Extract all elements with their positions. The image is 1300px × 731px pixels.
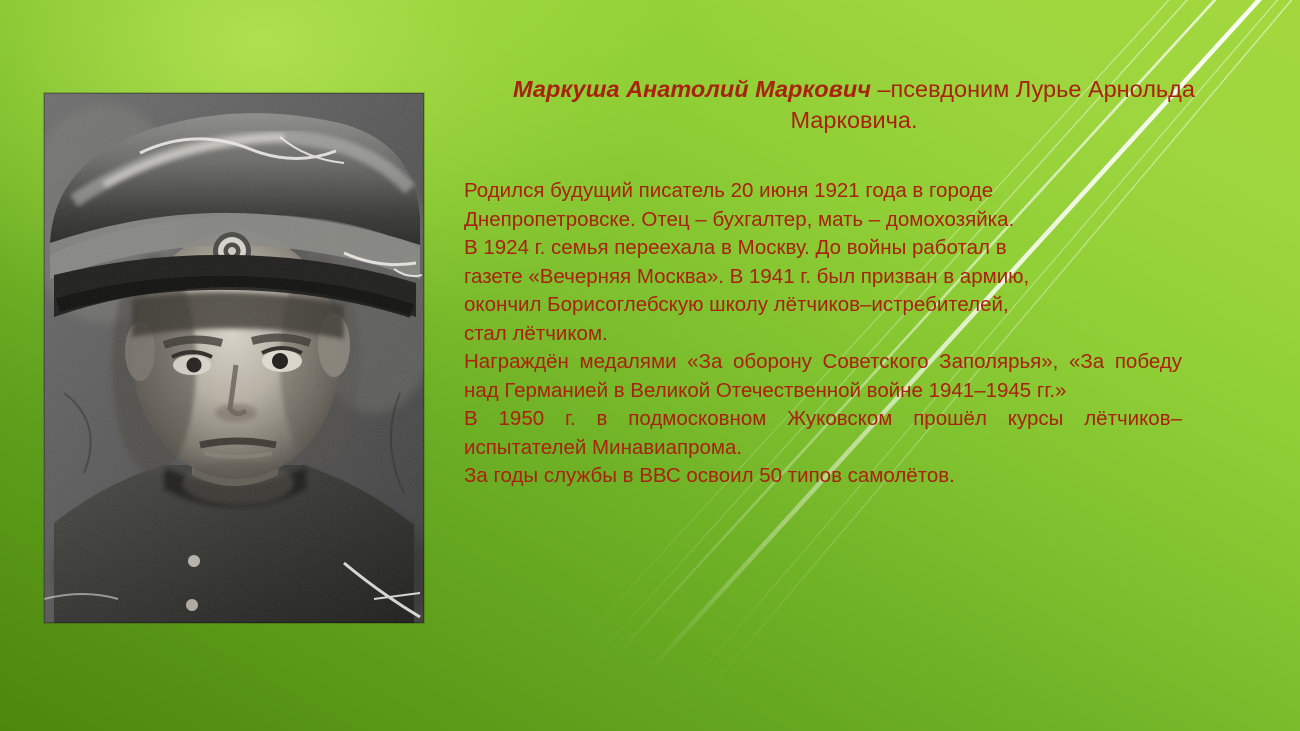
text-line: окончил Борисоглебскую школу лётчиков–ис…: [464, 291, 1264, 320]
title-emphasis: Маркуша Анатолий Маркович: [513, 76, 871, 102]
text-line: В 1924 г. семья переехала в Москву. До в…: [464, 234, 1264, 263]
text-line: Родился будущий писатель 20 июня 1921 го…: [464, 177, 1264, 206]
paragraph-birth: Родился будущий писатель 20 июня 1921 го…: [464, 177, 1264, 348]
text-line: стал лётчиком.: [464, 320, 1264, 349]
text-line: Днепропетровске. Отец – бухгалтер, мать …: [464, 206, 1264, 235]
text-line: газете «Вечерняя Москва». В 1941 г. был …: [464, 263, 1264, 292]
portrait-photo: [44, 93, 424, 623]
paragraph-test-pilot: В 1950 г. в подмосковном Жуковском прошё…: [464, 405, 1182, 462]
text-column: Маркуша Анатолий Маркович –псевдоним Лур…: [464, 74, 1264, 491]
presentation-slide: Маркуша Анатолий Маркович –псевдоним Лур…: [0, 0, 1300, 731]
paragraph-awards: Награждён медалями «За оборону Советског…: [464, 348, 1182, 405]
slide-title: Маркуша Анатолий Маркович –псевдоним Лур…: [464, 74, 1244, 136]
body-text: Родился будущий писатель 20 июня 1921 го…: [464, 177, 1264, 491]
paragraph-service: За годы службы в ВВС освоил 50 типов сам…: [464, 462, 1264, 491]
